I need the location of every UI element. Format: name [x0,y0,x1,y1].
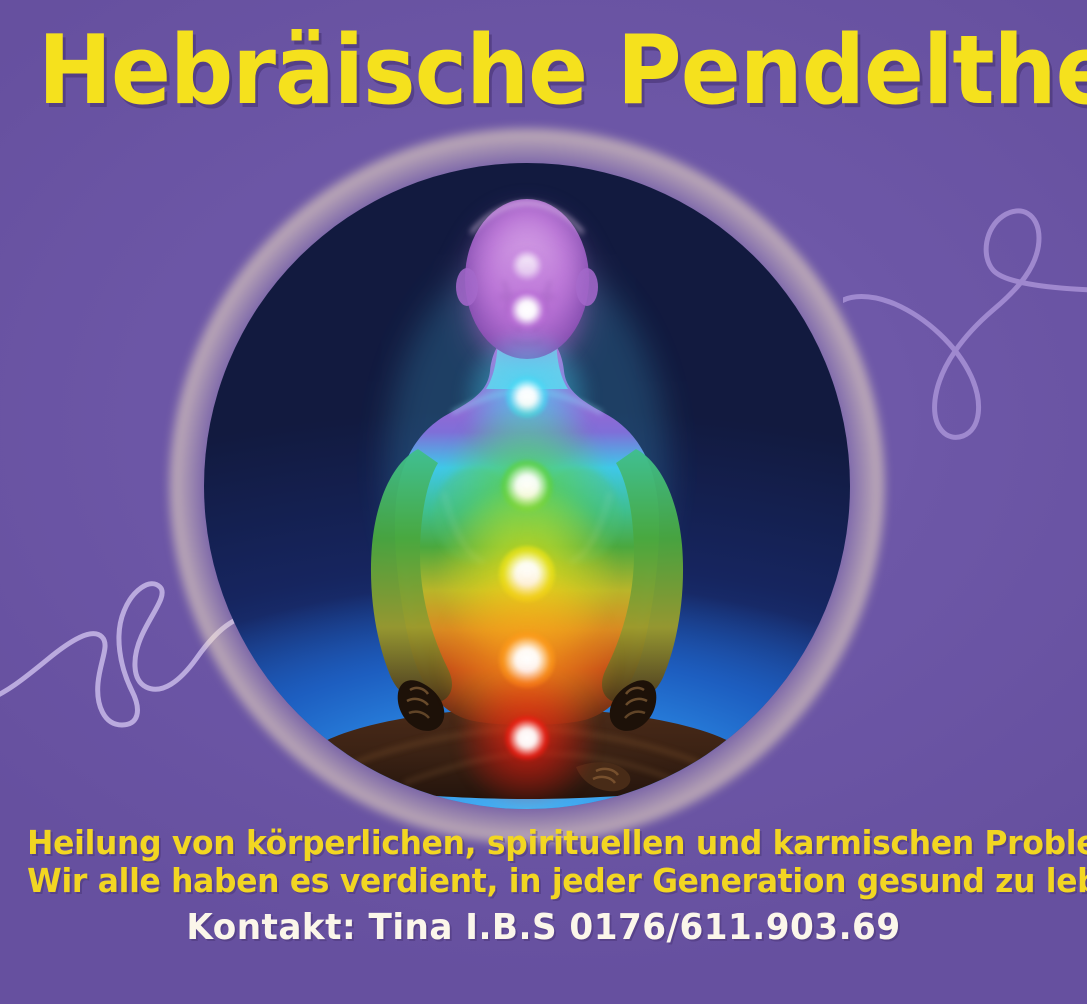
third-eye-chakra-halo [463,246,591,374]
crown-chakra [508,247,546,285]
contact-line[interactable]: Kontakt: Tina I.B.S 0176/611.903.69 [27,906,1060,950]
root-chakra-halo [457,668,598,809]
throat-chakra-halo [460,330,594,464]
crown-chakra-halo [466,206,588,328]
solar-plexus-chakra [499,546,555,602]
body-line-1: Heilung von körperlichen, spirituellen u… [27,824,1060,862]
root-chakra [505,716,549,760]
heart-chakra [501,460,553,512]
sacral-chakra [499,632,555,688]
body-line-2: Wir alle haben es verdient, in jeder Gen… [27,862,1060,900]
throat-chakra [506,376,548,418]
squiggle-line-right-icon [843,170,1087,470]
chakra-artwork [204,163,850,809]
poster-canvas: Hebräische Pendeltherapie [0,0,1087,1004]
page-title: Hebräische Pendeltherapie [38,22,1049,122]
sacral-chakra-halo [437,571,616,750]
heart-chakra-halo [444,403,610,569]
third-eye-chakra [507,290,547,330]
artwork-disc [204,163,850,809]
chakra-points-layer [204,163,850,809]
solar-plexus-chakra-halo [437,484,616,663]
poster-copy: Heilung von körperlichen, spirituellen u… [0,824,1087,950]
